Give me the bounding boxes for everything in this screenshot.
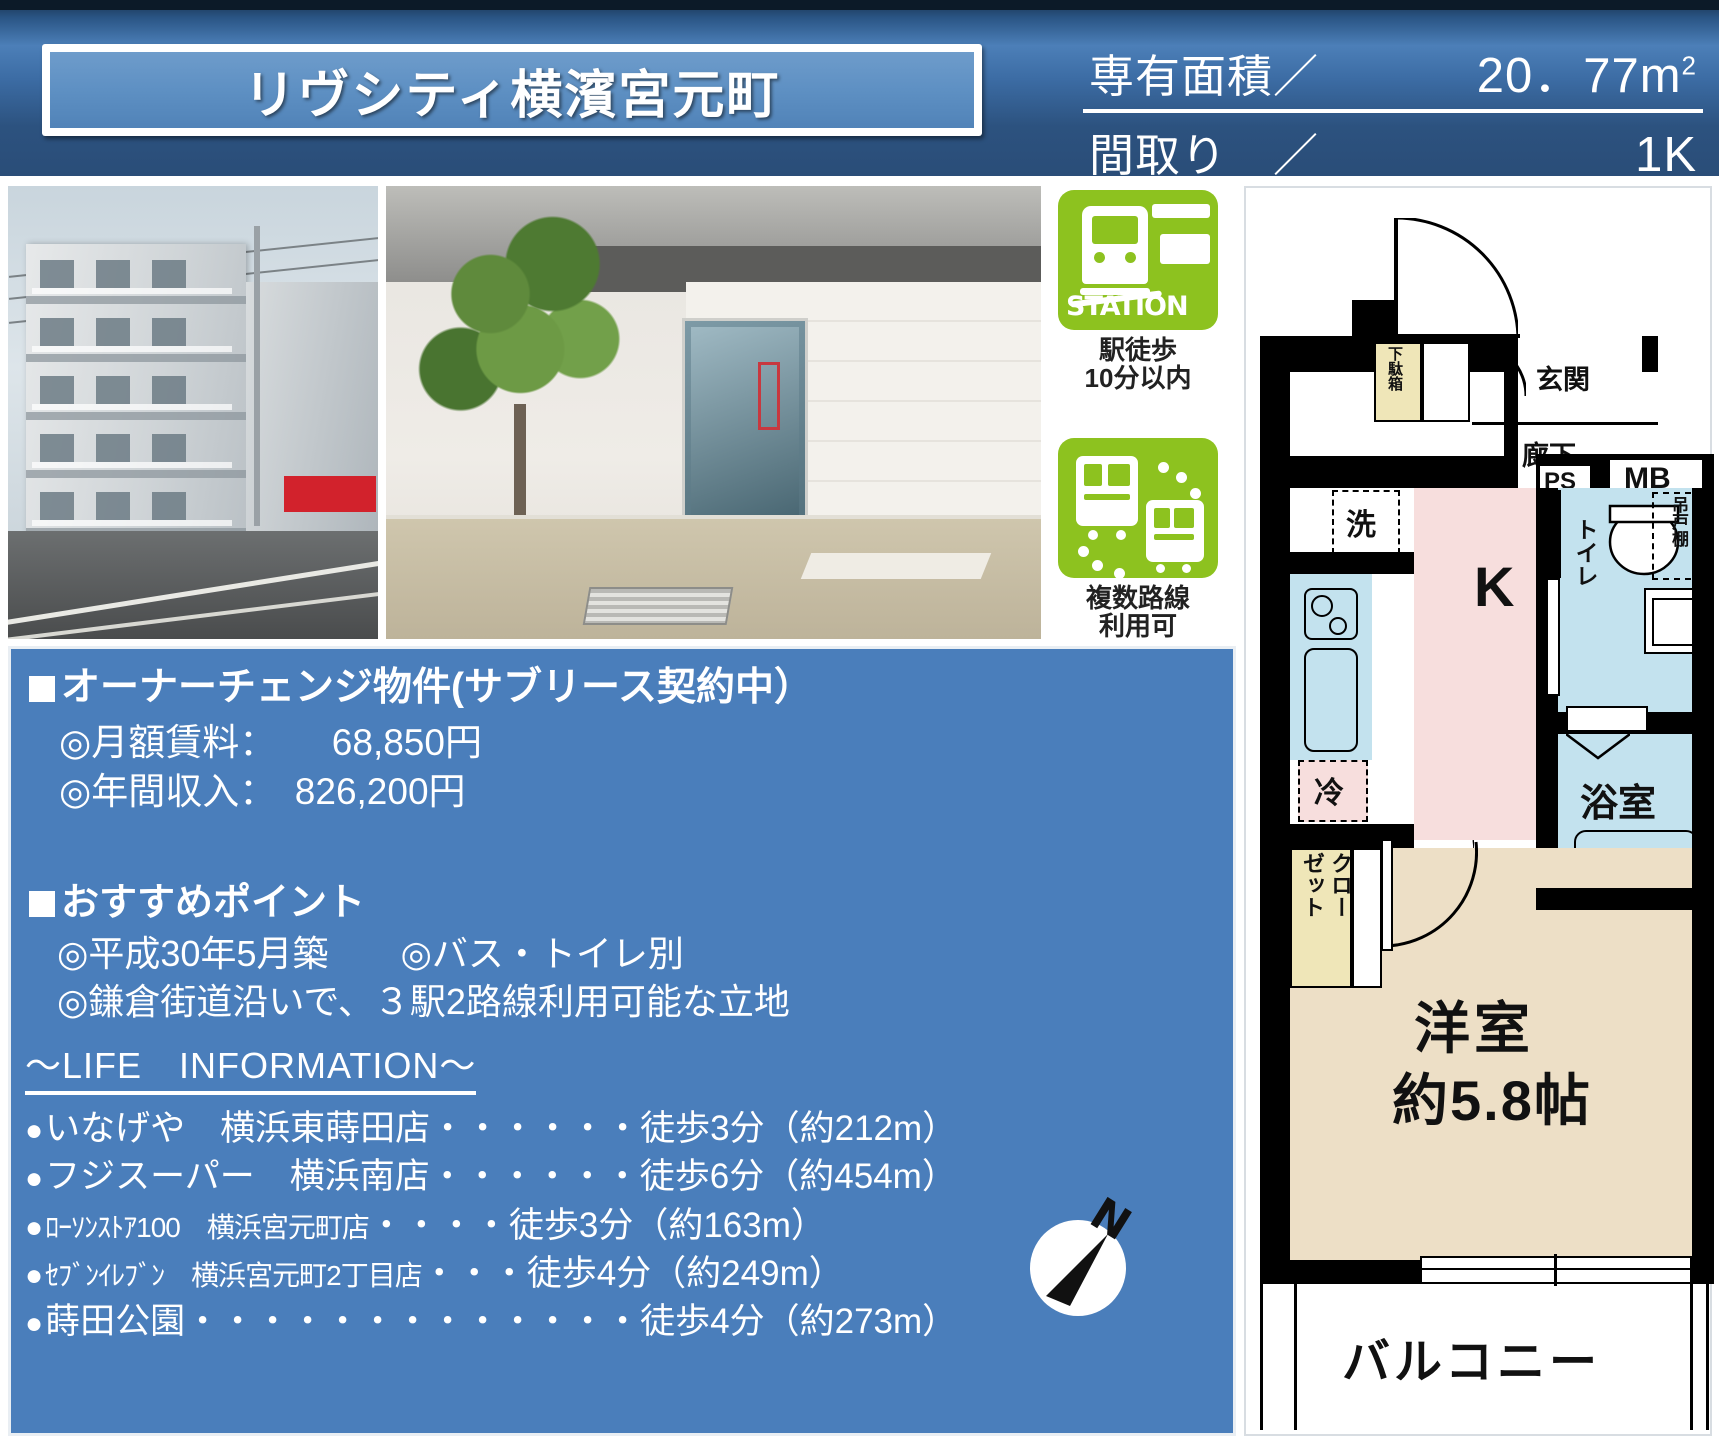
life-item-walk: 徒歩6分（約454m） [640, 1153, 957, 1201]
life-item-name: ｾﾌﾞﾝｲﾚﾌﾞﾝ 横浜宮元町2丁目店 [45, 1257, 422, 1296]
page-title: リヴシティ横濱宮元町 [244, 53, 781, 128]
floorplan: 下駄箱 玄関 廊下 洗 PS MB K [1244, 186, 1712, 1436]
multi-bus-line-icon [1058, 438, 1218, 578]
life-item-dots: ・・・ [422, 1250, 527, 1298]
owner-change-heading: オーナーチェンジ物件(サブリース契約中） [29, 665, 813, 711]
washer-label: 洗 [1346, 500, 1376, 544]
closet-label-lower-2: ゼット [1296, 852, 1328, 918]
spec-list: 専有面積／ 20．77m2 間取り ／ 1K [1083, 36, 1703, 196]
entrance-label: 玄関 [1536, 358, 1590, 397]
life-item-walk: 徒歩4分（約249m） [527, 1250, 844, 1298]
badge-station: STATION 駅徒歩 10分以内 [1058, 190, 1218, 392]
header-bar: リヴシティ横濱宮元町 専有面積／ 20．77m2 間取り ／ 1K [0, 0, 1719, 176]
life-item-name: ﾛｰｿﾝｽﾄｱ100 横浜宮元町店 [45, 1209, 369, 1248]
list-item: ● フジスーパー 横浜南店 ・・・・・・ 徒歩6分（約454m） [25, 1153, 957, 1201]
list-item: ● ﾛｰｿﾝｽﾄｱ100 横浜宮元町店 ・・・・ 徒歩3分（約163m） [25, 1202, 957, 1250]
square-bullet-icon [29, 676, 55, 702]
life-item-dots: ・・・・・・ [430, 1105, 640, 1153]
feature-badges: STATION 駅徒歩 10分以内 [1046, 186, 1236, 639]
spec-row-area: 専有面積／ 20．77m2 [1083, 36, 1703, 113]
list-item: ● ｾﾌﾞﾝｲﾚﾌﾞﾝ 横浜宮元町2丁目店 ・・・ 徒歩4分（約249m） [25, 1250, 957, 1298]
life-item-dots: ・・・・ [369, 1202, 509, 1250]
balcony-label: バルコニー [1342, 1322, 1601, 1392]
entrance-door-swing-icon [1396, 218, 1518, 340]
spec-value-layout: 1K [1635, 127, 1697, 183]
kitchen-area [1414, 488, 1536, 840]
life-item-dots: ・・・・・・・・・・・・・ [185, 1298, 640, 1346]
life-information-heading: ～LIFE INFORMATION～ [25, 1037, 476, 1095]
toilet-label: トイレ [1568, 518, 1602, 587]
life-item-walk: 徒歩3分（約212m） [640, 1105, 957, 1153]
annual-income-row: ◎年間収入： 826,200円 [59, 768, 813, 817]
spec-label-area: 専有面積／ [1089, 40, 1319, 105]
entrance-photo [386, 186, 1041, 639]
kitchen-label: K [1474, 554, 1514, 619]
western-room-label: 洋室 [1414, 984, 1534, 1065]
spec-row-layout: 間取り ／ 1K [1083, 119, 1703, 190]
refrigerator-label: 冷 [1314, 768, 1344, 812]
bathroom-door-icon [1566, 734, 1630, 764]
badge-multiline-line1: 複数路線 [1058, 584, 1218, 612]
badge-multiline: 複数路線 利用可 [1058, 438, 1218, 640]
life-item-dots: ・・・・・・ [430, 1153, 640, 1201]
badge-station-line1: 駅徒歩 [1058, 336, 1218, 364]
property-title-inner: リヴシティ横濱宮元町 [50, 52, 974, 128]
shoe-box-label: 下駄箱 [1384, 346, 1405, 391]
point-line-2: ◎鎌倉街道沿いで、３駅2路線利用可能な立地 [57, 978, 790, 1027]
hanging-cupboard-label: 吊戸棚 [1666, 496, 1691, 547]
point-line-1: ◎平成30年5月築 ◎バス・トイレ別 [57, 930, 790, 979]
owner-change-rows: ◎月額賃料： 68,850円 ◎年間収入： 826,200円 [59, 719, 813, 817]
spec-value-area: 20．77m2 [1477, 36, 1697, 107]
recommended-points-section: おすすめポイント ◎平成30年5月築 ◎バス・トイレ別 ◎鎌倉街道沿いで、３駅2… [29, 881, 790, 1027]
badge-station-caption: 駅徒歩 10分以内 [1058, 336, 1218, 392]
life-item-name: フジスーパー 横浜南店 [45, 1153, 430, 1201]
life-item-walk: 徒歩3分（約163m） [509, 1202, 826, 1250]
circle-bullet-icon: ● [25, 1303, 43, 1344]
points-heading: おすすめポイント [29, 881, 790, 926]
list-item: ● いなげや 横浜東蒔田店 ・・・・・・ 徒歩3分（約212m） [25, 1105, 957, 1153]
life-information-section: ～LIFE INFORMATION～ ● いなげや 横浜東蒔田店 ・・・・・・ … [25, 1037, 957, 1346]
circle-bullet-icon: ● [25, 1158, 43, 1199]
property-title-box: リヴシティ横濱宮元町 [42, 44, 982, 136]
circle-bullet-icon: ● [25, 1110, 43, 1151]
badge-multiline-line2: 利用可 [1058, 612, 1218, 640]
circle-bullet-icon: ● [25, 1255, 43, 1296]
circle-bullet-icon: ● [25, 1207, 43, 1248]
square-bullet-icon [29, 891, 55, 917]
property-flyer: リヴシティ横濱宮元町 専有面積／ 20．77m2 間取り ／ 1K [0, 0, 1719, 1445]
train-station-icon: STATION [1058, 190, 1218, 330]
life-item-name: いなげや 横浜東蒔田店 [45, 1105, 430, 1153]
points-lines: ◎平成30年5月築 ◎バス・トイレ別 ◎鎌倉街道沿いで、３駅2路線利用可能な立地 [57, 930, 790, 1027]
badge-multiline-caption: 複数路線 利用可 [1058, 584, 1218, 640]
exterior-photo [8, 186, 378, 639]
spec-label-layout: 間取り ／ [1089, 119, 1319, 184]
life-information-list: ● いなげや 横浜東蒔田店 ・・・・・・ 徒歩3分（約212m） ● フジスーパ… [25, 1105, 957, 1346]
badge-station-line2: 10分以内 [1058, 364, 1218, 392]
bathroom-label: 浴室 [1580, 772, 1656, 827]
monthly-rent-row: ◎月額賃料： 68,850円 [59, 719, 813, 768]
western-room-size-label: 約5.8帖 [1392, 1056, 1592, 1137]
owner-change-section: オーナーチェンジ物件(サブリース契約中） ◎月額賃料： 68,850円 ◎年間収… [29, 665, 813, 817]
genkan-door-swing-icon [1472, 342, 1526, 398]
life-item-name: 蒔田公園 [45, 1298, 185, 1346]
list-item: ● 蒔田公園 ・・・・・・・・・・・・・ 徒歩4分（約273m） [25, 1298, 957, 1346]
compass-icon: N [1022, 1194, 1150, 1322]
life-item-walk: 徒歩4分（約273m） [640, 1298, 957, 1346]
station-word: STATION [1066, 291, 1188, 322]
